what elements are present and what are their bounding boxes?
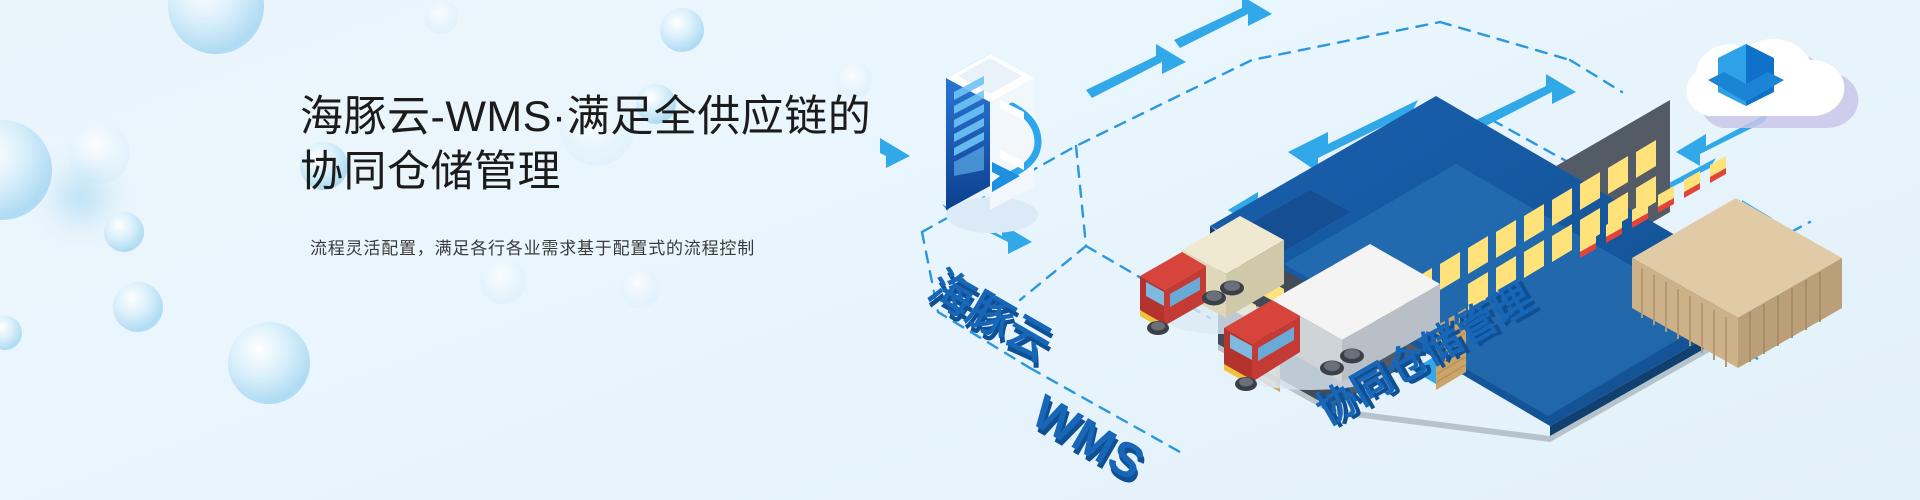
server-rack-icon bbox=[946, 54, 1038, 233]
page-subtitle: 流程灵活配置，满足各行各业需求基于配置式的流程控制 bbox=[310, 234, 940, 259]
warehouse-illustration: 海豚云 海豚云 WMS WMS 协同仓储管理 协同仓储管理 bbox=[880, 0, 1920, 500]
bubble-decoration bbox=[620, 268, 660, 308]
bubble-decoration bbox=[0, 120, 52, 220]
bubble-decoration bbox=[68, 122, 130, 184]
bubble-decoration bbox=[480, 258, 526, 304]
bubble-decoration bbox=[44, 160, 118, 234]
bubble-decoration bbox=[0, 316, 22, 350]
bubble-decoration bbox=[424, 0, 458, 34]
bubble-decoration bbox=[113, 282, 163, 332]
cloud-download-icon bbox=[1686, 39, 1858, 128]
bubble-decoration bbox=[660, 8, 704, 52]
label-left-text: 海豚云 bbox=[921, 262, 1060, 370]
bubble-decoration bbox=[168, 0, 264, 54]
bubble-decoration bbox=[228, 322, 310, 404]
hero-banner: 海豚云-WMS·满足全供应链的 协同仓储管理 流程灵活配置，满足各行各业需求基于… bbox=[0, 0, 1920, 500]
hero-copy: 海豚云-WMS·满足全供应链的 协同仓储管理 流程灵活配置，满足各行各业需求基于… bbox=[300, 90, 940, 259]
bubble-decoration bbox=[104, 212, 144, 252]
page-title: 海豚云-WMS·满足全供应链的 协同仓储管理 bbox=[300, 90, 940, 200]
